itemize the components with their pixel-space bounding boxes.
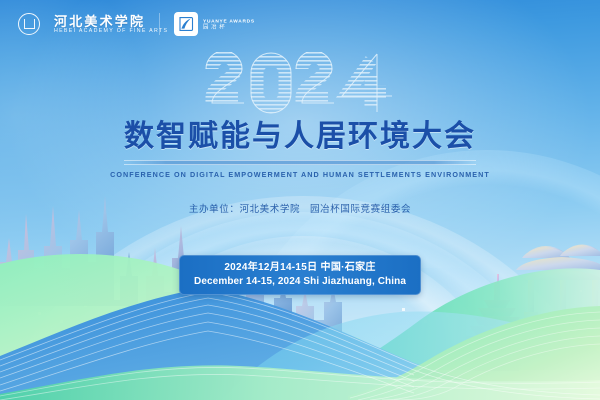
date-location-badge: 2024年12月14-15日 中国·石家庄 December 14-15, 20…	[179, 255, 421, 295]
logo-bar: 河北美术学院 HEBEI ACADEMY OF FINE ARTS YUANYE…	[18, 12, 238, 36]
date-location-cn: 2024年12月14-15日 中国·石家庄	[194, 261, 406, 275]
date-location-en: December 14-15, 2024 Shi Jiazhuang, Chin…	[194, 275, 406, 289]
yuanye-logo: YUANYE AWARDS 园冶杯	[174, 12, 238, 36]
academy-logo: 河北美术学院 HEBEI ACADEMY OF FINE ARTS	[54, 15, 145, 33]
organizer-2: 园冶杯国际竞赛组委会	[310, 204, 411, 215]
page-subtitle-en: CONFERENCE ON DIGITAL EMPOWERMENT AND HU…	[0, 170, 600, 179]
academy-logo-name-cn: 河北美术学院	[54, 15, 145, 28]
year-2024	[0, 52, 600, 114]
banner-content: 数智赋能与人居环境大会 CONFERENCE ON DIGITAL EMPOWE…	[0, 0, 600, 295]
organizer-1: 河北美术学院	[239, 204, 300, 215]
organizers-line: 主办单位：河北美术学院园冶杯国际竞赛组委会	[0, 201, 600, 215]
organizers-label: 主办单位：	[189, 204, 240, 215]
yuanye-mark-icon	[174, 12, 198, 36]
academy-seal-icon	[18, 13, 40, 35]
yuanye-logo-text: YUANYE AWARDS 园冶杯	[203, 19, 238, 29]
conference-banner: 河北美术学院 HEBEI ACADEMY OF FINE ARTS YUANYE…	[0, 0, 600, 400]
page-title: 数智赋能与人居环境大会	[0, 120, 600, 153]
title-rule	[124, 160, 476, 165]
year-2024-graphic	[205, 52, 395, 114]
yuanye-logo-cn: 园冶杯	[203, 24, 250, 29]
